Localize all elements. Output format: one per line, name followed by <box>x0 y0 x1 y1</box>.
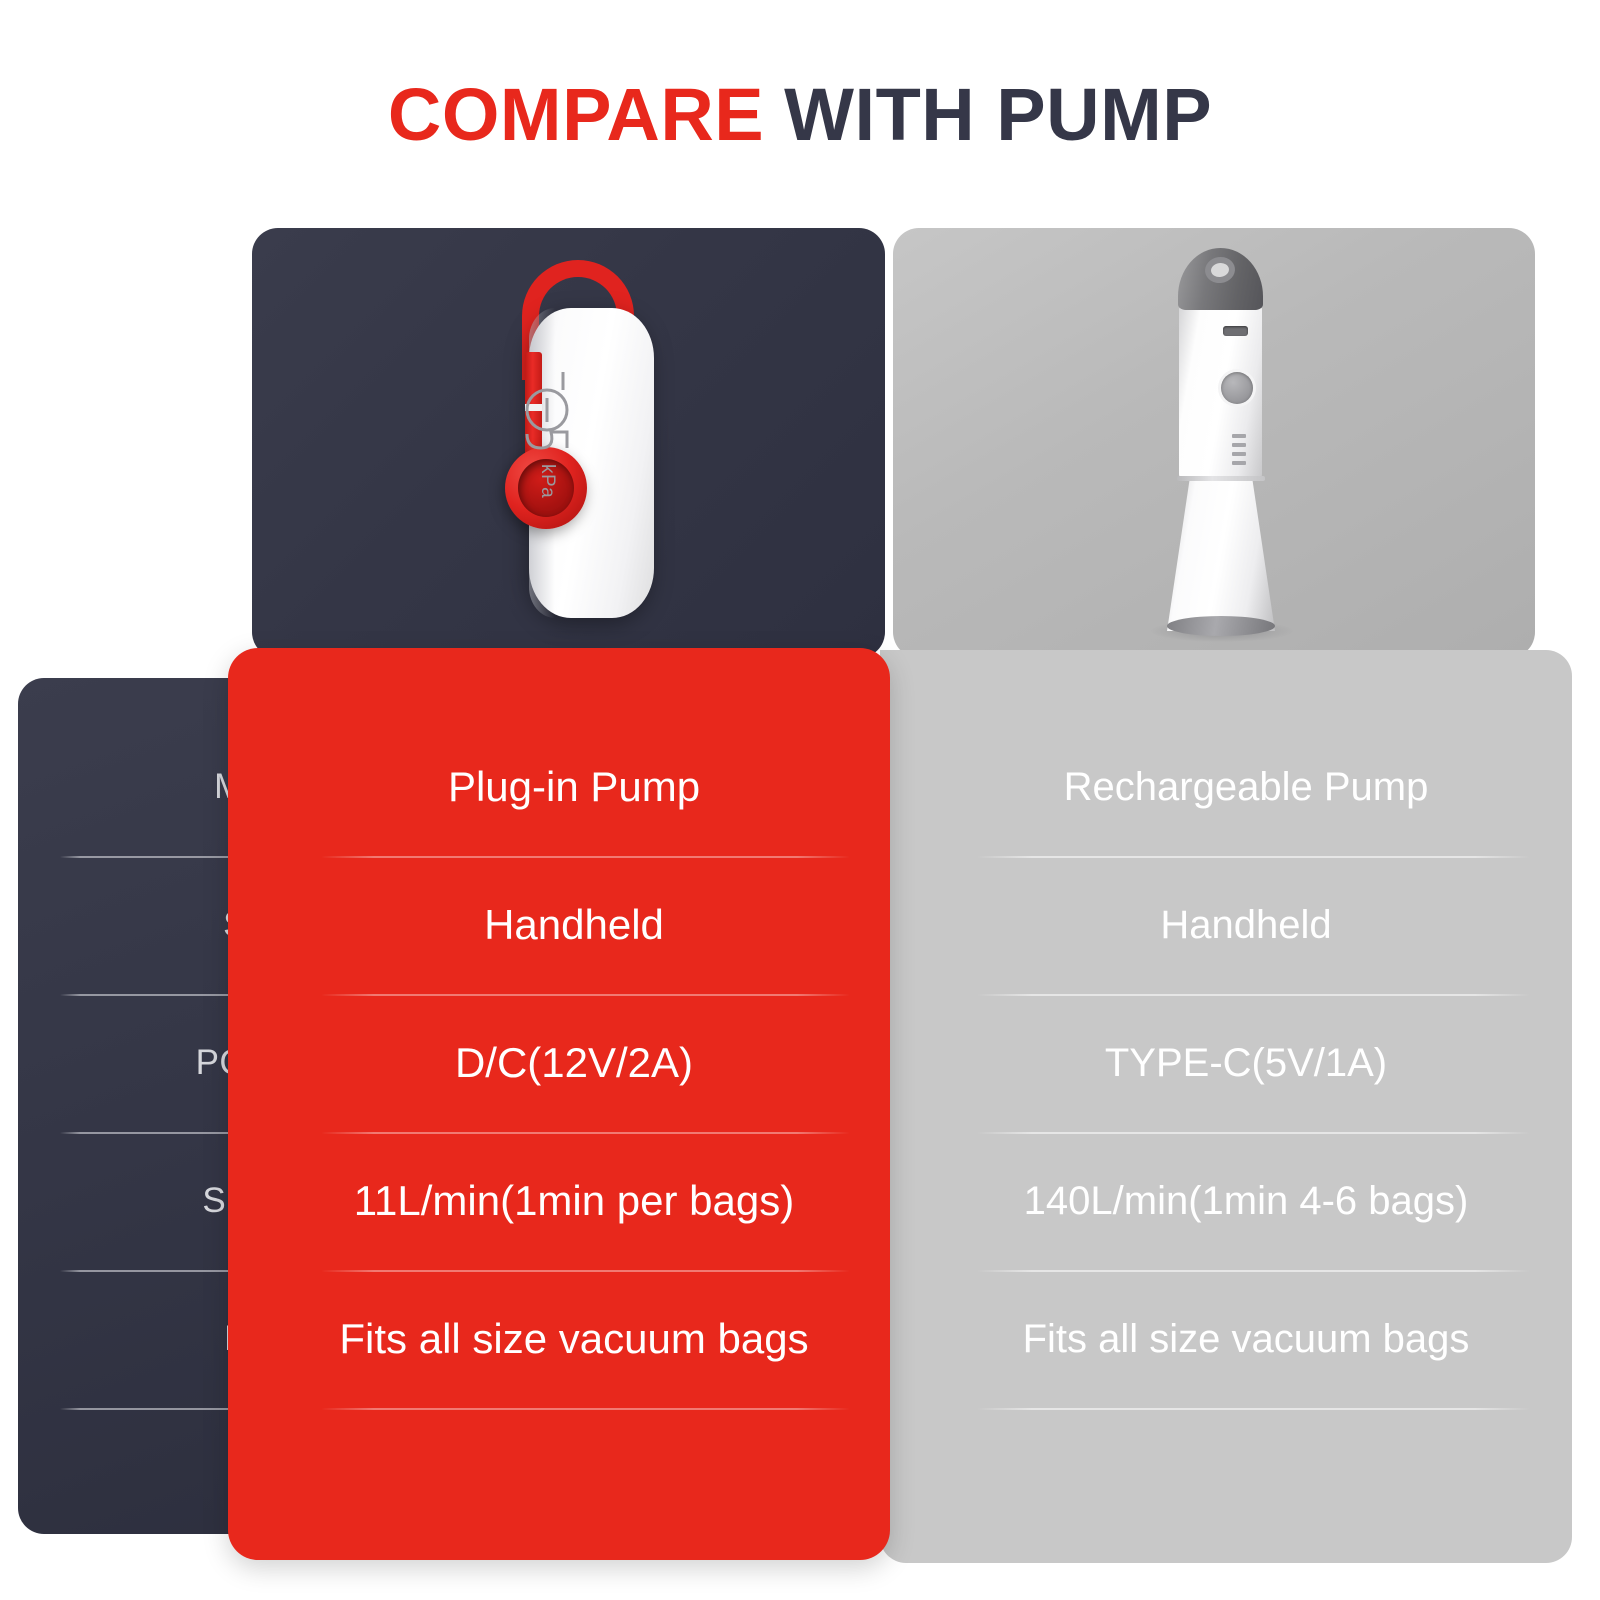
cell-plugin-fits: Fits all size vacuum bags <box>228 1270 890 1408</box>
pump-top-cap <box>1178 248 1263 310</box>
cell-rechargeable-power: TYPE-C(5V/1A) <box>880 994 1572 1132</box>
row-divider <box>321 1132 851 1134</box>
cell-rechargeable-spacer <box>880 1408 1572 1498</box>
rechargeable-pump-product-photo <box>1147 248 1297 648</box>
pump-body-seam <box>1177 476 1265 481</box>
product-image-card-plugin: kPa <box>252 228 885 658</box>
row-divider <box>977 1408 1531 1410</box>
row-divider <box>977 1132 1531 1134</box>
pump-hang-loop <box>1203 255 1236 285</box>
cell-plugin-size: Handheld <box>228 856 890 994</box>
table-column-plugin: Plug-in Pump Handheld D/C(12V/2A) 11L/mi… <box>228 648 890 1560</box>
row-divider <box>977 1270 1531 1272</box>
cell-plugin-model: Plug-in Pump <box>228 718 890 856</box>
cell-plugin-spacer <box>228 1408 890 1498</box>
cell-rechargeable-size: Handheld <box>880 856 1572 994</box>
pump-base-cone <box>1167 479 1275 631</box>
pump-base-ring <box>1167 616 1275 636</box>
usb-c-port-icon <box>1223 326 1248 336</box>
row-divider <box>321 856 851 858</box>
row-divider <box>321 1408 851 1410</box>
row-divider <box>977 994 1531 996</box>
row-divider <box>977 856 1531 858</box>
table-column-rechargeable: Rechargeable Pump Handheld TYPE-C(5V/1A)… <box>880 650 1572 1563</box>
cell-rechargeable-speed: 140L/min(1min 4-6 bags) <box>880 1132 1572 1270</box>
pump-kpa-marking: kPa <box>514 370 580 520</box>
power-button-icon <box>1221 372 1253 404</box>
plug-in-pump-product-photo: kPa <box>484 252 674 642</box>
row-divider <box>321 1270 851 1272</box>
cell-plugin-speed: 11L/min(1min per bags) <box>228 1132 890 1270</box>
battery-indicator-icon <box>1232 434 1246 470</box>
pump-kpa-unit-label: kPa <box>536 464 558 498</box>
cell-rechargeable-fits: Fits all size vacuum bags <box>880 1270 1572 1408</box>
cell-plugin-power: D/C(12V/2A) <box>228 994 890 1132</box>
row-divider <box>321 994 851 996</box>
page-title: COMPAREWITH PUMP <box>0 78 1600 152</box>
product-image-card-rechargeable <box>893 228 1535 658</box>
cell-rechargeable-model: Rechargeable Pump <box>880 718 1572 856</box>
page-title-rest: WITH PUMP <box>784 73 1212 156</box>
page-title-highlight: COMPARE <box>388 73 764 156</box>
minus-fifty-glyph <box>517 370 577 456</box>
